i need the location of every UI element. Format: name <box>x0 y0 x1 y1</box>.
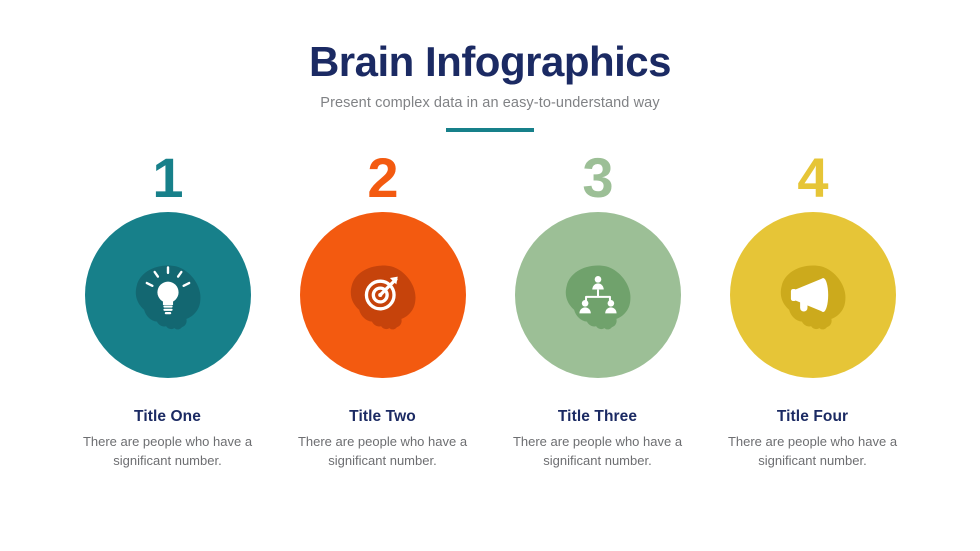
card-description: There are people who have a significant … <box>285 433 481 471</box>
step-number: 1 <box>152 150 182 208</box>
page-subtitle: Present complex data in an easy-to-under… <box>0 95 980 111</box>
brain-icon <box>122 249 214 341</box>
brain-icon <box>767 249 859 341</box>
brain-icon-holder <box>300 212 466 378</box>
card-title: Title Two <box>349 408 416 426</box>
step-number: 2 <box>367 150 397 208</box>
brain-icon-holder <box>730 212 896 378</box>
step-circle-wrap[interactable] <box>85 212 251 378</box>
step-number: 3 <box>582 150 612 208</box>
step-circle-wrap[interactable] <box>515 212 681 378</box>
step-circle-wrap[interactable] <box>730 212 896 378</box>
infographic-card[interactable]: 4 Title Four There are people who have a… <box>705 150 920 471</box>
infographic-card[interactable]: 3 Title Three There are people who have … <box>490 150 705 471</box>
card-description: There are people who have a significant … <box>500 433 696 471</box>
card-description: There are people who have a significant … <box>715 433 911 471</box>
slide-header: Brain Infographics Present complex data … <box>0 0 980 132</box>
infographic-slide: Brain Infographics Present complex data … <box>0 0 980 551</box>
card-title: Title One <box>134 408 201 426</box>
step-number: 4 <box>797 150 827 208</box>
infographic-card[interactable]: 1 Title One There are people who have a … <box>60 150 275 471</box>
title-underline-rule <box>446 128 534 132</box>
card-title: Title Four <box>777 408 848 426</box>
brain-icon <box>552 249 644 341</box>
step-circle-wrap[interactable] <box>300 212 466 378</box>
page-title: Brain Infographics <box>0 40 980 84</box>
infographic-card[interactable]: 2 Title Two There are people who have a … <box>275 150 490 471</box>
card-description: There are people who have a significant … <box>70 433 266 471</box>
brain-icon <box>337 249 429 341</box>
infographic-card-row: 1 Title One There are people who have a … <box>0 150 980 471</box>
brain-icon-holder <box>515 212 681 378</box>
card-title: Title Three <box>558 408 637 426</box>
brain-icon-holder <box>85 212 251 378</box>
